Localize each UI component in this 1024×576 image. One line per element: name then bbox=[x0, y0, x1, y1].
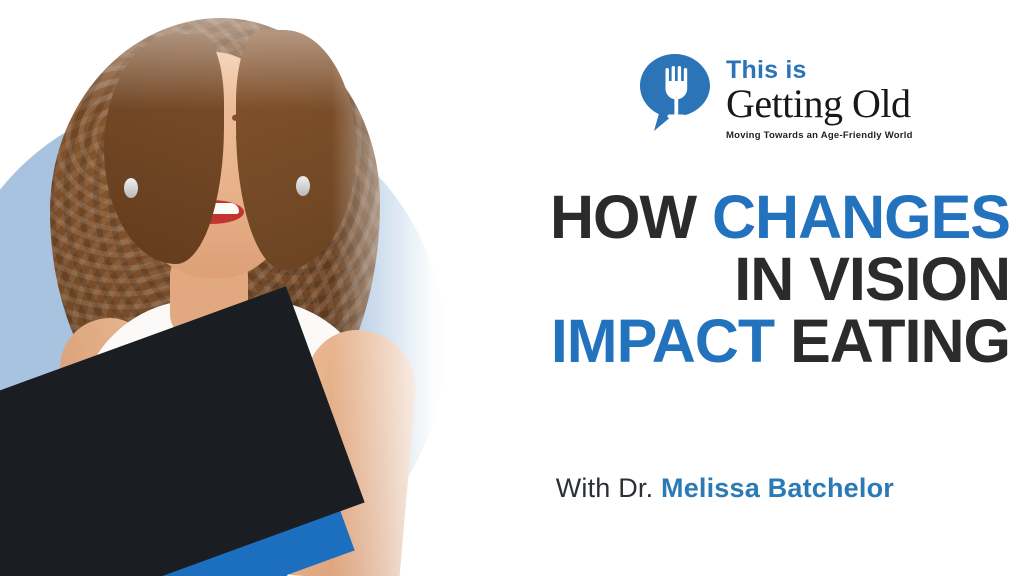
brand-name-line2: Getting Old bbox=[726, 84, 913, 125]
title-line-1-plain: HOW bbox=[550, 183, 712, 251]
byline-prefix: With Dr. bbox=[556, 473, 661, 503]
title-line-3: IMPACT EATING bbox=[450, 310, 1010, 372]
podcast-cover-canvas: This is Getting Old Moving Towards an Ag… bbox=[0, 0, 1024, 576]
brand-wordmark: This is Getting Old Moving Towards an Ag… bbox=[726, 52, 913, 141]
brand-name-line1: This is bbox=[726, 58, 913, 83]
brand-logo[interactable]: This is Getting Old Moving Towards an Ag… bbox=[636, 52, 913, 141]
earring-left bbox=[124, 178, 138, 198]
title-line-3-accent: IMPACT bbox=[551, 307, 774, 375]
speech-bubble-microphone-icon bbox=[636, 52, 714, 134]
title-line-2: IN VISION bbox=[450, 248, 1010, 310]
title-line-1-accent: CHANGES bbox=[712, 183, 1010, 251]
title-line-1: HOW CHANGES bbox=[450, 186, 1010, 248]
byline-host-name: Melissa Batchelor bbox=[661, 473, 894, 503]
page-title: HOW CHANGES IN VISION IMPACT EATING bbox=[450, 186, 1010, 373]
brand-tagline: Moving Towards an Age-Friendly World bbox=[726, 130, 913, 141]
earring-right bbox=[296, 176, 310, 196]
title-line-3-plain: EATING bbox=[774, 307, 1010, 375]
host-byline: With Dr. Melissa Batchelor bbox=[556, 473, 894, 504]
